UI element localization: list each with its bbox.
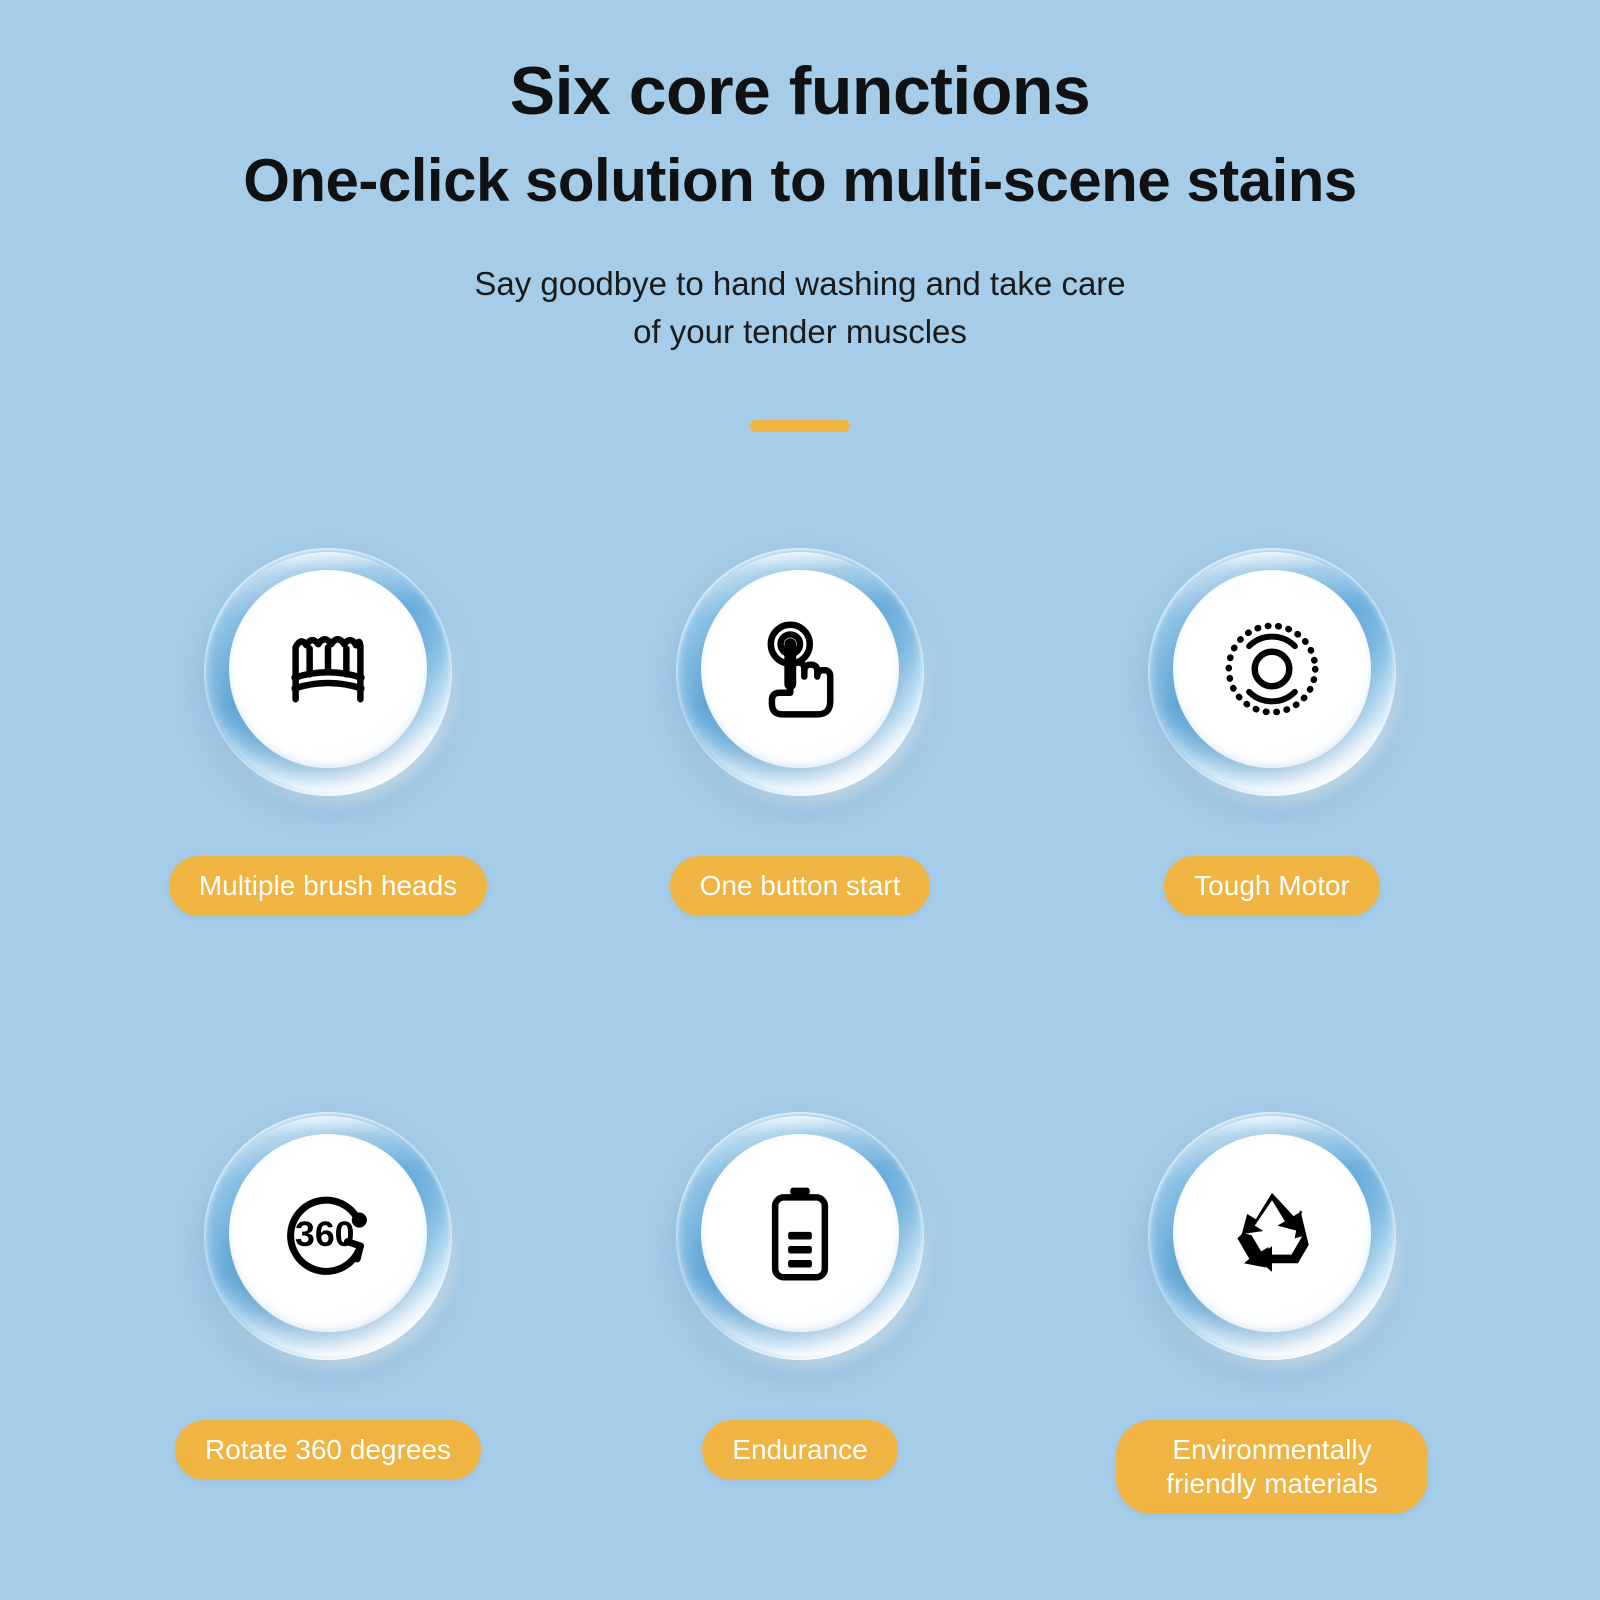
svg-text:360: 360 <box>295 1214 354 1254</box>
tagline-line-2: of your tender muscles <box>350 308 1250 356</box>
divider-container <box>0 420 1600 432</box>
feature-card-one-button-start[interactable]: One button start <box>644 548 956 916</box>
orb-face <box>701 1134 899 1332</box>
feature-orb <box>676 548 924 796</box>
feature-card-environmentally-friendly-materials[interactable]: Environmentally friendly materials <box>1116 1112 1428 1514</box>
orb-face <box>229 570 427 768</box>
feature-label-pill[interactable]: Tough Motor <box>1164 856 1380 916</box>
feature-label-pill[interactable]: Multiple brush heads <box>169 856 487 916</box>
battery-icon <box>746 1179 854 1287</box>
recycle-icon <box>1218 1179 1326 1287</box>
orb-face <box>1173 1134 1371 1332</box>
feature-orb <box>1148 548 1396 796</box>
orb-face <box>701 570 899 768</box>
feature-card-endurance[interactable]: Endurance <box>644 1112 956 1514</box>
page-header: Six core functions One-click solution to… <box>0 0 1600 432</box>
rotate-360-icon: 360 <box>274 1179 382 1287</box>
tagline: Say goodbye to hand washing and take car… <box>350 260 1250 356</box>
page-title: Six core functions <box>0 56 1600 127</box>
feature-label-pill[interactable]: One button start <box>670 856 931 916</box>
feature-infographic-page: { "header": { "title": "Six core functio… <box>0 0 1600 1600</box>
feature-orb: 360 <box>204 1112 452 1360</box>
tagline-line-1: Say goodbye to hand washing and take car… <box>350 260 1250 308</box>
feature-orb <box>1148 1112 1396 1360</box>
orb-face <box>1173 570 1371 768</box>
feature-grid: Multiple brush heads <box>0 548 1600 1514</box>
feature-orb <box>204 548 452 796</box>
feature-row-bottom: 360 Rotate 360 degrees <box>0 1112 1600 1514</box>
page-subtitle: One-click solution to multi-scene stains <box>0 149 1600 212</box>
accent-divider <box>750 420 850 432</box>
feature-label-pill[interactable]: Environmentally friendly materials <box>1116 1420 1428 1514</box>
brush-head-icon <box>274 615 382 723</box>
feature-label-pill[interactable]: Rotate 360 degrees <box>175 1420 481 1480</box>
feature-row-top: Multiple brush heads <box>0 548 1600 916</box>
orb-face: 360 <box>229 1134 427 1332</box>
feature-card-rotate-360-degrees[interactable]: 360 Rotate 360 degrees <box>172 1112 484 1514</box>
motor-icon <box>1218 615 1326 723</box>
feature-label-pill[interactable]: Endurance <box>702 1420 897 1480</box>
feature-orb <box>676 1112 924 1360</box>
feature-card-multiple-brush-heads[interactable]: Multiple brush heads <box>172 548 484 916</box>
feature-card-tough-motor[interactable]: Tough Motor <box>1116 548 1428 916</box>
tap-hand-icon <box>746 615 854 723</box>
